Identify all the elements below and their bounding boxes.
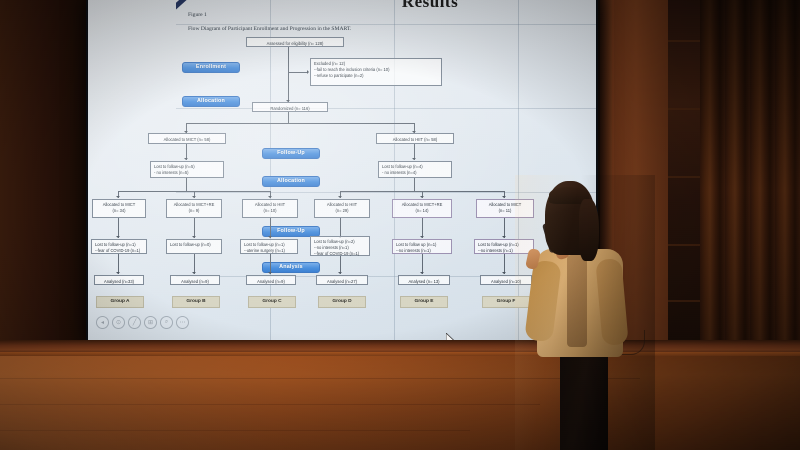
- arm-lost-box: Lost to follow up (n=1) --no interests (…: [392, 239, 452, 254]
- zoom-icon[interactable]: ⌕: [160, 316, 173, 329]
- slide-title: Results: [176, 0, 596, 12]
- node-allocated-mict-58: Allocated to MICT (n= 58): [148, 133, 226, 144]
- auditorium-photo: Results Figure 1 Flow Diagram of Partici…: [0, 0, 800, 450]
- arm-analysed-box: Analysed (n=33): [94, 275, 144, 285]
- arm-lost-box: Lost to follow-up (n=0): [166, 239, 222, 254]
- figure-label: Figure 1: [188, 12, 207, 18]
- excluded-line-3: --refuse to participate (n=2): [314, 73, 438, 79]
- prev-slide-icon[interactable]: ◂: [96, 316, 109, 329]
- group-label-d: Group D: [318, 296, 366, 308]
- group-label-c: Group C: [248, 296, 296, 308]
- arm-allocation-box: Allocated to MICT (n= 34): [92, 199, 146, 218]
- pen-icon[interactable]: ╱: [128, 316, 141, 329]
- node-excluded: Excluded (n= 12) --fail to reach the inc…: [310, 58, 442, 86]
- stage-badge-allocation-2: Allocation: [262, 176, 320, 187]
- arm-analysed-box: Analysed (n=9): [170, 275, 220, 285]
- arm-lost-box: Lost to follow-up (n=1) --fear of COVID-…: [91, 239, 147, 254]
- arm-allocation-box: Allocated to MICT+RE (n= 14): [392, 199, 452, 218]
- allocation-line-2: (n= 14): [396, 208, 448, 214]
- allocation-line-2: (n= 29): [318, 208, 366, 214]
- arm-allocation-box: Allocated to HIIT (n= 10): [242, 199, 298, 218]
- stage-badge-allocation-1: Allocation: [182, 96, 240, 107]
- allocation-line-2: (n= 34): [96, 208, 142, 214]
- presenter-toolbar[interactable]: ◂ ⊙ ╱ ⊞ ⌕ ⋯: [96, 316, 189, 329]
- all-slides-icon[interactable]: ⊞: [144, 316, 157, 329]
- arm-allocation-box: Allocated to HIIT (n= 29): [314, 199, 370, 218]
- stage-left-mask: [0, 0, 95, 340]
- node-allocated-hiit-58: Allocated to HIIT (n= 58): [376, 133, 454, 144]
- arm-analysed-box: Analysed (n=9): [246, 275, 296, 285]
- presenter: [515, 175, 655, 450]
- pointer-options-icon[interactable]: ⊙: [112, 316, 125, 329]
- group-label-a: Group A: [96, 296, 144, 308]
- node-assessed-eligibility: Assessed for eligibility (n= 128): [246, 37, 344, 47]
- group-label-b: Group B: [172, 296, 220, 308]
- allocation-line-2: (n= 10): [246, 208, 294, 214]
- arm-lost-box: Lost to follow-up (n=1) --uterine surger…: [240, 239, 298, 254]
- arm-analysed-box: Analysed (n=27): [316, 275, 368, 285]
- lost-line: --no interests (n=1): [396, 248, 448, 254]
- node-lost-mict-58: Lost to follow-up (n=5) - no interests (…: [150, 161, 224, 178]
- lost-line: --uterine surgery (n=1): [244, 248, 294, 254]
- arm-analysed-box: Analysed (n= 13): [398, 275, 450, 285]
- node-randomized: Randomized (n= 116): [252, 102, 328, 112]
- presenter-hair-side: [579, 199, 599, 261]
- stage-badge-followup-1: Follow-Up: [262, 148, 320, 159]
- lost-line-2: - no interests (n=5): [154, 170, 220, 176]
- group-label-e: Group E: [400, 296, 448, 308]
- node-lost-hiit-58: Lost to follow-up (n=4) - no interests (…: [378, 161, 452, 178]
- floor-reflection: [0, 356, 800, 450]
- arm-allocation-box: Allocated to MICT+RE (n= 9): [166, 199, 222, 218]
- lost-line-2: - no interests (n=4): [382, 170, 448, 176]
- arm-lost-box: Lost to follow-up (n=2) --no interests (…: [310, 236, 370, 256]
- allocation-line-2: (n= 9): [170, 208, 218, 214]
- more-options-icon[interactable]: ⋯: [176, 316, 189, 329]
- lost-line: --fear of COVID-19 (n=1): [95, 248, 143, 254]
- stage-badge-enrollment: Enrollment: [182, 62, 240, 73]
- cardigan-opening: [567, 255, 587, 347]
- presenter-legs: [560, 347, 608, 450]
- lost-line: Lost to follow-up (n=0): [170, 242, 218, 248]
